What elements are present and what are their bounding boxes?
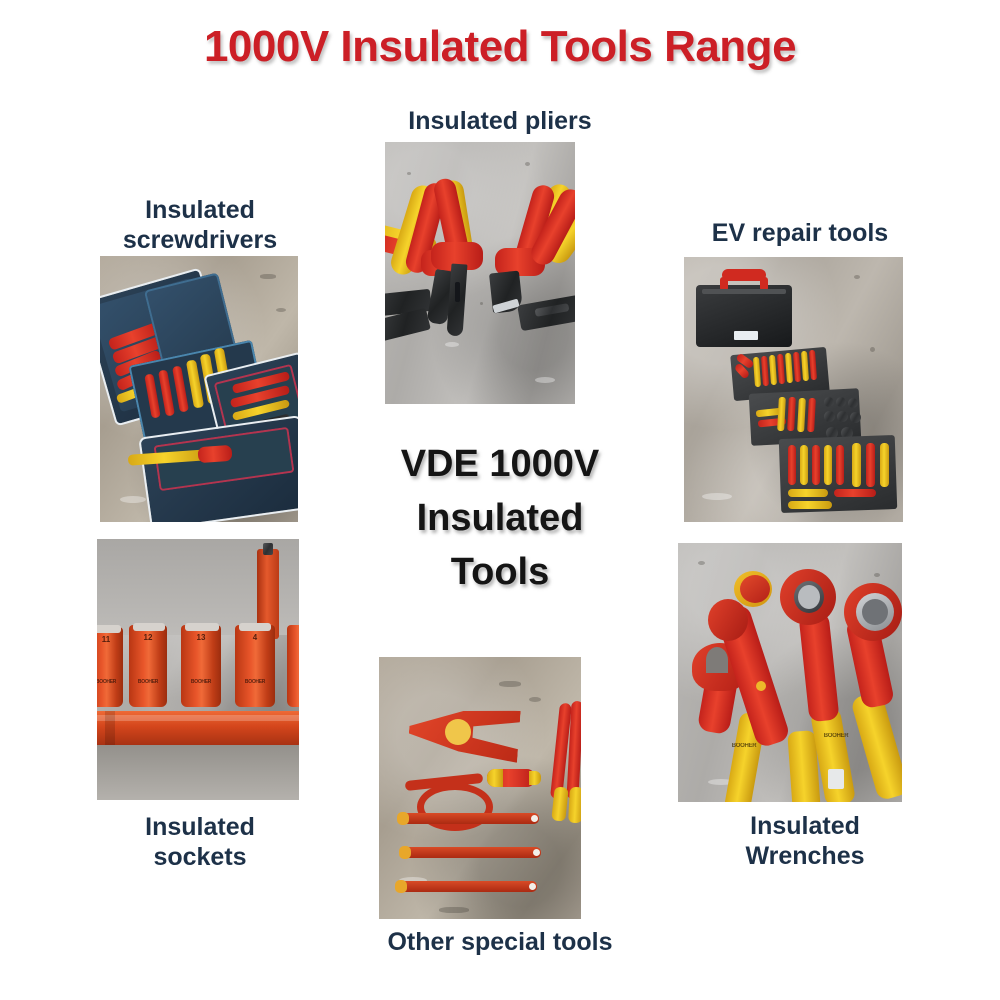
page-title: 1000V Insulated Tools Range bbox=[0, 22, 1000, 72]
caption-insulated-wrenches: Insulated Wrenches bbox=[690, 812, 920, 871]
caption-other-special-tools: Other special tools bbox=[355, 928, 645, 958]
caption-special-line1: Other special tools bbox=[355, 928, 645, 958]
caption-sockets-line2: sockets bbox=[100, 843, 300, 873]
brand-line-3: Tools bbox=[350, 546, 650, 600]
caption-ev-line1: EV repair tools bbox=[690, 219, 910, 249]
photo-insulated-sockets: 11 BOOHER 12 BOOHER 13 BOOHER 4 BOOHER bbox=[97, 539, 299, 800]
collage-canvas: 1000V Insulated Tools Range Insulated pl… bbox=[0, 0, 1000, 1000]
caption-sockets-line1: Insulated bbox=[100, 813, 300, 843]
caption-ev-repair-tools: EV repair tools bbox=[690, 219, 910, 249]
photo-pliers-background bbox=[385, 142, 575, 404]
caption-insulated-sockets: Insulated sockets bbox=[100, 813, 300, 872]
caption-wrenches-line1: Insulated bbox=[690, 812, 920, 842]
caption-wrenches-line2: Wrenches bbox=[690, 842, 920, 872]
photo-other-special-tools bbox=[379, 657, 581, 919]
photo-insulated-wrenches: BOOHER BOOHER bbox=[678, 543, 902, 802]
brand-line-2: Insulated bbox=[350, 492, 650, 546]
caption-insulated-screwdrivers: Insulated screwdrivers bbox=[95, 196, 305, 255]
caption-screwdrivers-line2: screwdrivers bbox=[95, 226, 305, 256]
photo-ev-repair-tools bbox=[684, 257, 903, 522]
caption-screwdrivers-line1: Insulated bbox=[95, 196, 305, 226]
photo-insulated-screwdrivers bbox=[100, 256, 298, 522]
caption-insulated-pliers: Insulated pliers bbox=[370, 107, 630, 137]
brand-block: VDE 1000V Insulated Tools bbox=[350, 438, 650, 600]
brand-line-1: VDE 1000V bbox=[350, 438, 650, 492]
photo-insulated-pliers bbox=[385, 142, 575, 404]
caption-pliers-line1: Insulated pliers bbox=[370, 107, 630, 137]
